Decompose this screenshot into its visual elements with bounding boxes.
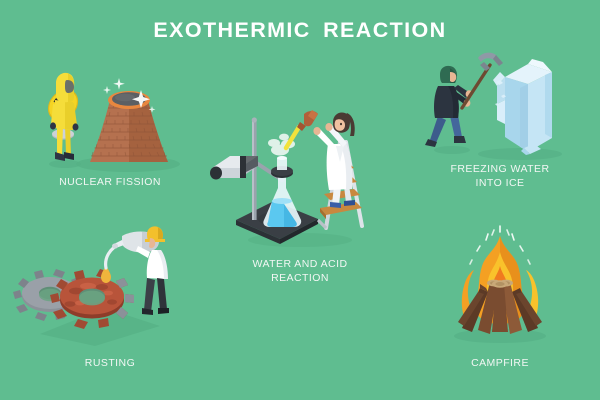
panel-nuclear-fission: NUCLEAR FISSION [10,42,210,197]
cooling-tower-icon [90,91,168,162]
label-nuclear-fission: NUCLEAR FISSION [10,175,210,189]
erlenmeyer-flask-icon [263,156,301,227]
label-campfire: CAMPFIRE [400,356,600,370]
ice-block-icon [493,59,552,155]
ice-shadow [478,148,562,160]
infographic-poster: EXOTHERMIC REACTION [0,0,600,400]
campfire-logs-icon [458,280,542,334]
water-acid-reaction-illustration [200,100,400,255]
label-water-acid-line2: REACTION [200,271,400,285]
hazmat-worker-icon [50,73,79,161]
label-rusting: RUSTING [10,356,210,370]
label-freezing-water-line1: FREEZING WATER [400,162,600,176]
lab-stand-icon [210,117,318,244]
worker-shadow [49,160,81,168]
person-shadow [434,146,470,154]
label-freezing-water: FREEZING WATER INTO ICE [400,162,600,190]
label-water-acid-line1: WATER AND ACID [200,257,400,271]
panel-campfire: CAMPFIRE [400,222,600,377]
freezing-water-illustration [400,42,600,160]
panel-freezing-water: FREEZING WATER INTO ICE [400,42,600,197]
person-with-pickaxe-icon [425,53,503,147]
panel-rusting: RUSTING [10,222,210,377]
label-freezing-water-line2: INTO ICE [400,176,600,190]
nuclear-fission-illustration [10,42,210,172]
scientist-icon [297,110,355,208]
page-title: EXOTHERMIC REACTION [0,18,600,43]
campfire-illustration [400,222,600,352]
panel-water-acid-reaction: WATER AND ACID REACTION [200,100,400,295]
rusting-illustration [10,222,210,352]
label-water-acid-reaction: WATER AND ACID REACTION [200,257,400,285]
